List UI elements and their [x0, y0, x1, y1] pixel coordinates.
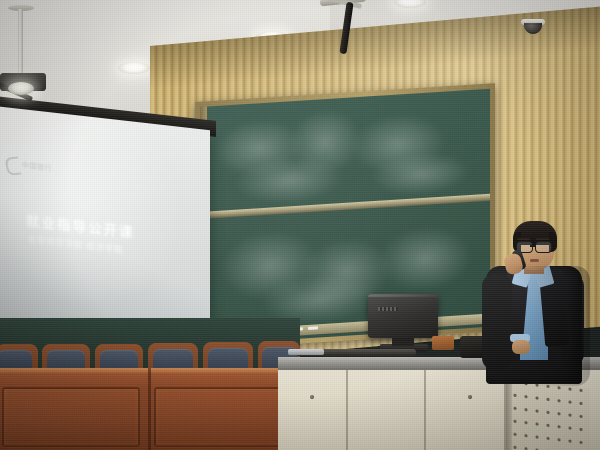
- audience-desk-seam: [148, 368, 151, 450]
- presenter-eyebrow: [536, 238, 549, 240]
- monitor-vent: [378, 307, 398, 311]
- lecture-hall-photo: 中国银行 就业指导公开课 北京师范学院 经济学院: [0, 0, 600, 450]
- projector-drop-pole: [18, 9, 23, 77]
- lectern-door-seam: [424, 369, 426, 450]
- presenter: [480, 222, 590, 372]
- lectern-lock-icon[interactable]: [310, 395, 314, 399]
- desk-item: [432, 336, 454, 350]
- presenter-eyebrow: [517, 238, 530, 240]
- lectern-perforated-panel: [512, 379, 590, 450]
- desktop-monitor: [368, 294, 438, 338]
- glasses-bridge-icon: [530, 245, 536, 247]
- glasses-lens-icon: [535, 241, 552, 253]
- projection-screen-sheen: [0, 106, 210, 352]
- projector-lens-icon: [8, 82, 34, 95]
- lectern-lock-icon[interactable]: [468, 395, 472, 399]
- lectern-door-seam: [346, 369, 348, 450]
- presenter-shading: [482, 266, 590, 386]
- presenter-mouth: [530, 259, 539, 262]
- ceiling-downlight-icon: [118, 62, 150, 74]
- chalkboard-surface: [200, 89, 490, 345]
- monitor-top-edge: [368, 294, 438, 297]
- desk-device: [288, 349, 324, 355]
